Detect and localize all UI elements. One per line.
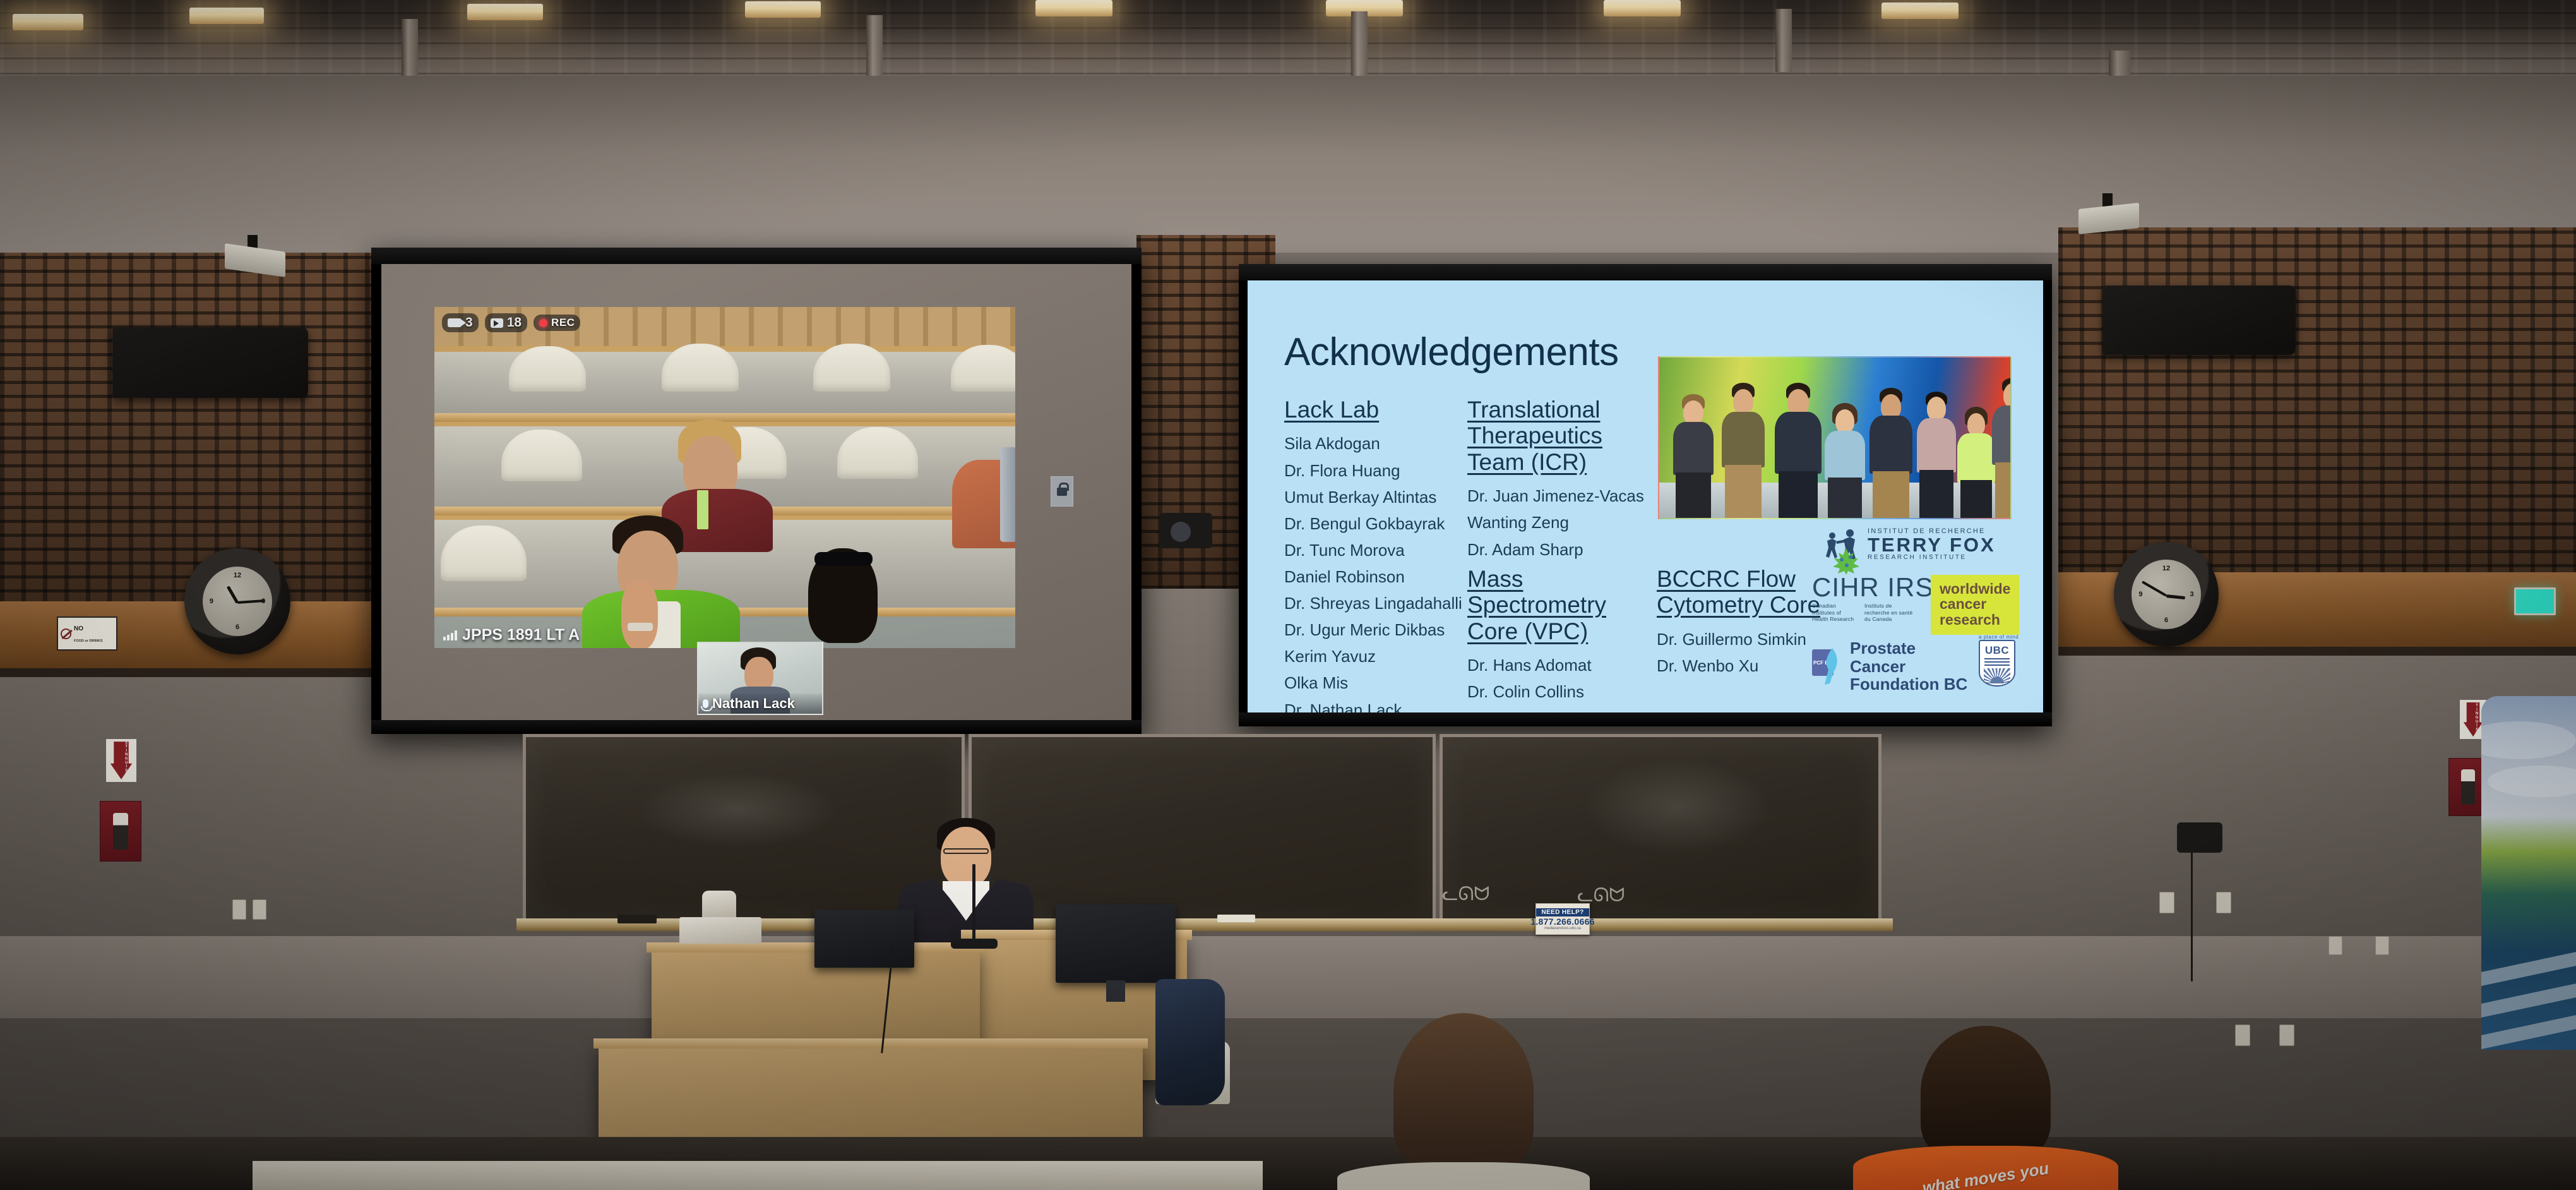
legs bbox=[1919, 470, 1953, 518]
chalk-smudge bbox=[636, 772, 838, 848]
wall-outlet[interactable] bbox=[232, 899, 246, 920]
prostate-cancer-foundation-bc-logo: PCF BC Prostate Cancer Foundation BC bbox=[1812, 639, 1967, 694]
wall-outlet[interactable] bbox=[2235, 1025, 2250, 1046]
team-member bbox=[1671, 392, 1716, 518]
wall-trim-right bbox=[2058, 647, 2576, 656]
clock-number: 12 bbox=[234, 572, 241, 579]
ceiling-light bbox=[1881, 3, 1959, 19]
remote-attendee-front bbox=[582, 515, 746, 648]
fire-extinguisher-arrow-label: FIRE EXTINGUISHER bbox=[110, 742, 133, 779]
hair bbox=[1921, 1026, 2051, 1160]
torso bbox=[1722, 412, 1765, 467]
wcr-line-1: worldwide bbox=[1940, 581, 2010, 596]
lock-icon bbox=[1057, 488, 1067, 496]
head bbox=[1927, 397, 1946, 421]
ack-name: Dr. Wenbo Xu bbox=[1657, 652, 1821, 679]
room-camera-lens bbox=[1171, 522, 1191, 542]
torso bbox=[1992, 406, 2012, 465]
need-help-phone: 1.877.266.0666 bbox=[1530, 917, 1595, 927]
head bbox=[1683, 400, 1703, 424]
clock-number: 12 bbox=[2162, 565, 2170, 572]
ack-heading: BCCRC Flow Cytometry Core bbox=[1657, 566, 1821, 618]
arm bbox=[621, 581, 658, 648]
zoom-main-video-tile[interactable]: 3 18 REC JPPS 1891 LT A bbox=[434, 307, 1015, 648]
wall-clock-left: 12 3 6 9 bbox=[184, 548, 290, 654]
ack-name: Dr. Colin Collins bbox=[1467, 678, 1650, 705]
fire-extinguisher-icon bbox=[113, 813, 128, 850]
legs bbox=[1779, 471, 1818, 518]
acknowledgements-slide: Acknowledgements Lack Lab Sila Akdogan D… bbox=[1248, 280, 2043, 712]
camera-count: 3 bbox=[465, 315, 473, 330]
cihr-sub-fr: Instituts de recherche en santé du Canad… bbox=[1864, 603, 1913, 623]
ceiling-light bbox=[1604, 0, 1681, 16]
chalk-smudge bbox=[1583, 759, 1773, 854]
ack-name: Dr. Nathan Lack bbox=[1284, 697, 1480, 712]
zoom-speaker-thumbnail[interactable]: Nathan Lack bbox=[697, 642, 823, 715]
no-food-or-drinks-sign: NO FOOD or DRINKS bbox=[57, 616, 117, 651]
clock-number: 9 bbox=[210, 598, 213, 605]
ack-heading: Lack Lab bbox=[1284, 397, 1480, 423]
water-bottle bbox=[1000, 447, 1015, 542]
record-dot-icon bbox=[539, 319, 547, 327]
ceiling-light bbox=[189, 8, 264, 24]
fire-extinguisher-icon bbox=[2461, 769, 2475, 805]
zoom-room-status: JPPS 1891 LT A bbox=[443, 626, 580, 644]
head bbox=[1733, 389, 1753, 414]
audience-member-left bbox=[1331, 1013, 1596, 1190]
ubc-shield-icon: UBC bbox=[1979, 640, 2015, 687]
shoulders bbox=[1337, 1162, 1590, 1190]
torso bbox=[1917, 418, 1956, 472]
worldwide-cancer-research-logo: worldwide cancer research bbox=[1931, 575, 2019, 635]
clock-number: 6 bbox=[2164, 616, 2168, 624]
wall-outlet[interactable] bbox=[2375, 936, 2389, 955]
ceiling-light bbox=[745, 1, 821, 18]
monitor-stand bbox=[1106, 980, 1125, 1002]
wall-mural-artwork bbox=[2481, 696, 2576, 1050]
screen-top-bar bbox=[371, 248, 1142, 264]
wall-trim-left bbox=[0, 668, 386, 677]
wall-speaker-right bbox=[2102, 285, 2296, 355]
wcr-line-2: cancer bbox=[1940, 596, 2010, 611]
participants-count-badge: 18 bbox=[485, 313, 527, 332]
draped-jacket bbox=[1155, 979, 1225, 1105]
wall-outlet[interactable] bbox=[2216, 892, 2231, 913]
ack-name: Dr. Hans Adomat bbox=[1467, 652, 1650, 678]
bench-back-rail bbox=[253, 1161, 1263, 1190]
ack-name: Dr. Juan Jimenez-Vacas bbox=[1467, 483, 1657, 509]
wall-outlet[interactable] bbox=[2329, 936, 2342, 955]
left-projection-screen: 3 18 REC JPPS 1891 LT A bbox=[371, 248, 1142, 734]
ack-column-bccrc-flow: BCCRC Flow Cytometry Core Dr. Guillermo … bbox=[1657, 566, 1821, 679]
remote-attendee-right bbox=[952, 447, 1015, 548]
chalkboard-eraser bbox=[617, 915, 657, 923]
ubc-tagline: a place of mind bbox=[1979, 634, 2018, 640]
gooseneck-microphone bbox=[972, 864, 975, 944]
clock-minute-hand bbox=[2142, 580, 2167, 596]
terry-fox-wordmark: INSTITUT DE RECHERCHE TERRY FOX RESEARCH… bbox=[1868, 528, 1996, 561]
clock-hour-hand bbox=[227, 586, 239, 603]
presenter-laptop bbox=[814, 910, 914, 968]
acoustic-slat-panel-right bbox=[2058, 227, 2576, 581]
ack-name: Dr. Bengul Gokbayrak bbox=[1284, 510, 1480, 537]
team-member bbox=[1720, 383, 1767, 518]
light-stem bbox=[1351, 11, 1368, 77]
legs bbox=[1960, 480, 1992, 518]
ceiling-light bbox=[467, 4, 543, 20]
torso bbox=[1957, 433, 1995, 483]
ack-heading: Mass Spectrometry Core (VPC) bbox=[1467, 566, 1650, 644]
legs bbox=[1725, 465, 1762, 518]
sunglasses bbox=[814, 552, 873, 566]
light-stem bbox=[1775, 9, 1792, 72]
ack-column-lack-lab: Lack Lab Sila Akdogan Dr. Flora Huang Um… bbox=[1284, 397, 1480, 712]
ack-name: Daniel Robinson bbox=[1284, 563, 1480, 590]
need-help-sign: NEED HELP? 1.877.266.0666 mediaservices.… bbox=[1535, 903, 1590, 935]
confidence-monitor bbox=[1056, 905, 1176, 983]
ubc-sun bbox=[1984, 668, 2010, 683]
room-camera-right bbox=[2177, 822, 2222, 853]
signal-strength-icon bbox=[443, 630, 457, 640]
no-food-main: NO bbox=[74, 625, 83, 632]
clock-hour-hand bbox=[2166, 594, 2185, 599]
torso bbox=[1869, 416, 1912, 474]
status-indicator-light bbox=[2514, 587, 2556, 615]
mural-stripe bbox=[2481, 951, 2576, 986]
ack-name: Dr. Guillermo Simkin bbox=[1657, 626, 1821, 652]
document-camera-base bbox=[679, 917, 761, 944]
team-photo bbox=[1658, 356, 2012, 519]
camera-count-badge: 3 bbox=[442, 313, 479, 332]
mural-wave bbox=[2481, 721, 2576, 759]
recording-indicator: REC bbox=[534, 315, 580, 331]
no-food-icon bbox=[61, 628, 71, 639]
team-member bbox=[1990, 378, 2012, 518]
torso bbox=[1775, 412, 1822, 474]
ack-name: Dr. Shreyas Lingadahalli bbox=[1284, 590, 1480, 616]
ack-name: Dr. Flora Huang bbox=[1284, 457, 1480, 484]
torso bbox=[1825, 431, 1865, 480]
participants-count: 18 bbox=[507, 315, 522, 330]
camera-cable bbox=[2191, 851, 2193, 982]
share-screen-icon bbox=[491, 318, 503, 328]
wall-outlet[interactable] bbox=[2159, 892, 2174, 913]
mural-wave bbox=[2488, 766, 2576, 797]
front-desk-top bbox=[593, 1038, 1148, 1049]
ubc-waves bbox=[1984, 658, 2010, 666]
ack-name: Dr. Adam Sharp bbox=[1467, 536, 1657, 563]
clock-number: 9 bbox=[2138, 591, 2142, 598]
hair bbox=[1393, 1013, 1534, 1171]
presenter-head bbox=[941, 827, 991, 887]
head bbox=[1835, 409, 1854, 433]
team-member bbox=[1914, 388, 1959, 518]
ceiling-grid bbox=[0, 0, 2576, 75]
legs bbox=[1873, 471, 1909, 518]
clock-number: 3 bbox=[2190, 591, 2193, 598]
team-member bbox=[1773, 380, 1823, 518]
screen-top-bar bbox=[1239, 264, 2052, 280]
cihr-sub-en: Canadian Institutes of Health Research bbox=[1812, 603, 1858, 623]
ack-name: Wanting Zeng bbox=[1467, 509, 1657, 536]
screen-bottom-bar bbox=[1239, 712, 2052, 726]
funder-logos: INSTITUT DE RECHERCHE TERRY FOX RESEARCH… bbox=[1816, 528, 2037, 699]
right-projection-screen: Acknowledgements Lack Lab Sila Akdogan D… bbox=[1239, 264, 2052, 726]
wristwatch bbox=[628, 623, 653, 631]
legs bbox=[1828, 478, 1862, 518]
zoom-room-name: JPPS 1891 LT A bbox=[462, 626, 580, 644]
presenter-glasses bbox=[943, 848, 989, 854]
ceiling-light bbox=[13, 14, 83, 30]
head bbox=[1967, 413, 1985, 436]
ceiling-light bbox=[1035, 0, 1112, 16]
team-member bbox=[1822, 394, 1868, 518]
team-member bbox=[1868, 384, 1914, 518]
clock-number: 6 bbox=[236, 623, 239, 631]
cat-doodle-icon: ᓚᘏᗢ bbox=[1442, 883, 1489, 905]
right-screen-surface: Acknowledgements Lack Lab Sila Akdogan D… bbox=[1248, 280, 2043, 712]
left-screen-surface: 3 18 REC JPPS 1891 LT A bbox=[381, 264, 1131, 720]
clock-face: 12 3 6 9 bbox=[2132, 560, 2201, 629]
pcf-line-3: Foundation BC bbox=[1850, 675, 1967, 694]
legs bbox=[1676, 472, 1711, 518]
camera-icon bbox=[448, 318, 462, 327]
slide-title: Acknowledgements bbox=[1284, 330, 1619, 375]
ack-name: Sila Akdogan bbox=[1284, 430, 1480, 457]
ack-column-icr: Translational Therapeutics Team (ICR) Dr… bbox=[1467, 397, 1657, 563]
ack-name: Olka Mis bbox=[1284, 670, 1480, 696]
torso bbox=[1673, 422, 1714, 475]
remote-attendee-lower-right bbox=[794, 548, 889, 648]
wall-outlet[interactable] bbox=[253, 899, 266, 920]
pcf-line-2: Cancer bbox=[1850, 658, 1967, 676]
fire-extinguisher-arrow-sign-left: FIRE EXTINGUISHER bbox=[106, 739, 136, 782]
recording-label: REC bbox=[551, 316, 575, 329]
clock-face: 12 3 6 9 bbox=[203, 567, 273, 637]
ack-heading: Translational Therapeutics Team (ICR) bbox=[1467, 397, 1657, 475]
mural-stripe bbox=[2481, 982, 2576, 1018]
wcr-line-3: research bbox=[1940, 612, 2010, 627]
gooseneck-microphone-base bbox=[951, 939, 998, 949]
screen-bottom-bar bbox=[371, 720, 1142, 734]
light-stem bbox=[866, 15, 883, 83]
ubc-wordmark: UBC bbox=[1980, 644, 2014, 657]
terry-fox-main-text: TERRY FOX bbox=[1868, 535, 1996, 555]
wall-outlet[interactable] bbox=[2279, 1025, 2294, 1046]
ack-name: Umut Berkay Altintas bbox=[1284, 484, 1480, 510]
zoom-thumbnail-name-label: Nathan Lack bbox=[698, 694, 822, 714]
pcf-ribbon-icon: PCF BC bbox=[1812, 647, 1845, 686]
lecture-hall-scene: 3 18 REC JPPS 1891 LT A bbox=[0, 0, 2576, 1190]
zoom-hud: 3 18 REC bbox=[442, 313, 580, 332]
lock-icon-badge bbox=[1051, 476, 1073, 507]
audience-member-right: what moves you bbox=[1850, 1026, 2121, 1190]
mural-stripe bbox=[2481, 1014, 2576, 1049]
no-food-sub: FOOD or DRINKS bbox=[74, 639, 103, 643]
pcf-line-1: Prostate bbox=[1850, 639, 1967, 658]
ack-name: Dr. Tunc Morova bbox=[1284, 537, 1480, 563]
ack-column-mass-spectrometry: Mass Spectrometry Core (VPC) Dr. Hans Ad… bbox=[1467, 566, 1650, 706]
need-help-url: mediaservices.ubc.ca bbox=[1544, 927, 1581, 930]
legs bbox=[1995, 462, 2012, 518]
chalkboard-eraser bbox=[1217, 915, 1255, 922]
acoustic-slat-panel-left bbox=[0, 253, 385, 606]
ack-name: Dr. Ugur Meric Dikbas bbox=[1284, 616, 1480, 643]
need-help-banner: NEED HELP? bbox=[1536, 908, 1589, 917]
ack-name: Kerim Yavuz bbox=[1284, 643, 1480, 670]
microphone-icon bbox=[703, 699, 708, 708]
ubc-logo: a place of mind UBC bbox=[1979, 634, 2018, 687]
wall-speaker-left bbox=[112, 327, 308, 398]
fire-extinguisher-cabinet-left bbox=[100, 801, 141, 862]
speaker-name: Nathan Lack bbox=[712, 695, 795, 712]
wall-clock-right: 12 3 6 9 bbox=[2114, 542, 2219, 647]
document-camera bbox=[702, 891, 736, 920]
cihr-maple-leaf-icon bbox=[1831, 547, 1861, 575]
terry-fox-research-institute-logo: INSTITUT DE RECHERCHE TERRY FOX RESEARCH… bbox=[1868, 528, 1996, 561]
fire-extinguisher-arrow-label: FIRE EXTINGUISHER bbox=[2464, 702, 2483, 737]
lower-wall-band bbox=[0, 936, 2576, 1018]
